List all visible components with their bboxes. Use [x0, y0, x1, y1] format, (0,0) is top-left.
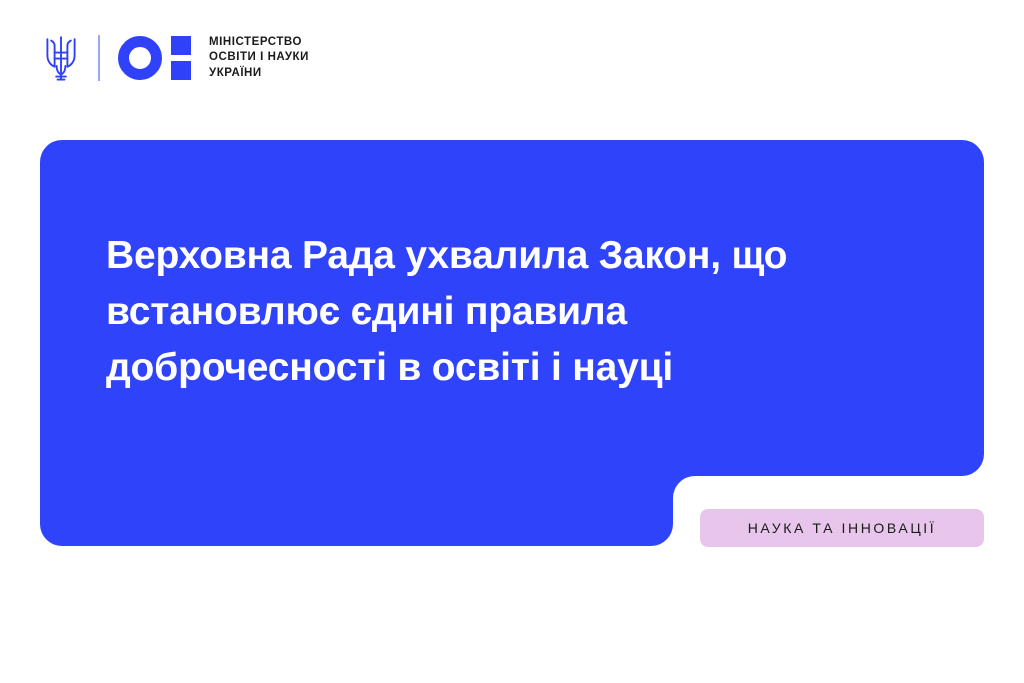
mon-ring-icon: [118, 36, 162, 80]
mon-o-equals-mark: [118, 36, 191, 80]
headline-card: Верховна Рада ухвалила Закон, що встанов…: [40, 140, 984, 546]
ministry-logo-lockup[interactable]: МІНІСТЕРСТВО ОСВІТИ І НАУКИ УКРАЇНИ: [44, 28, 309, 88]
category-tag[interactable]: НАУКА ТА ІННОВАЦІЇ: [700, 509, 984, 547]
ministry-name: МІНІСТЕРСТВО ОСВІТИ І НАУКИ УКРАЇНИ: [209, 35, 309, 82]
logo-divider: [98, 35, 100, 81]
page-title: Верховна Рада ухвалила Закон, що встанов…: [106, 228, 936, 396]
mon-equals-icon: [171, 36, 191, 80]
headline-line-3: доброчесності в освіті і науці: [106, 340, 936, 396]
ministry-line-3: УКРАЇНИ: [209, 66, 309, 82]
ministry-line-2: ОСВІТИ І НАУКИ: [209, 50, 309, 66]
ministry-line-1: МІНІСТЕРСТВО: [209, 35, 309, 51]
headline-line-2: встановлює єдині правила: [106, 284, 936, 340]
ukraine-trident-emblem: [44, 34, 78, 82]
category-tag-label: НАУКА ТА ІННОВАЦІЇ: [748, 520, 937, 536]
headline-line-1: Верховна Рада ухвалила Закон, що: [106, 228, 936, 284]
news-card-page: МІНІСТЕРСТВО ОСВІТИ І НАУКИ УКРАЇНИ Верх…: [0, 0, 1024, 683]
